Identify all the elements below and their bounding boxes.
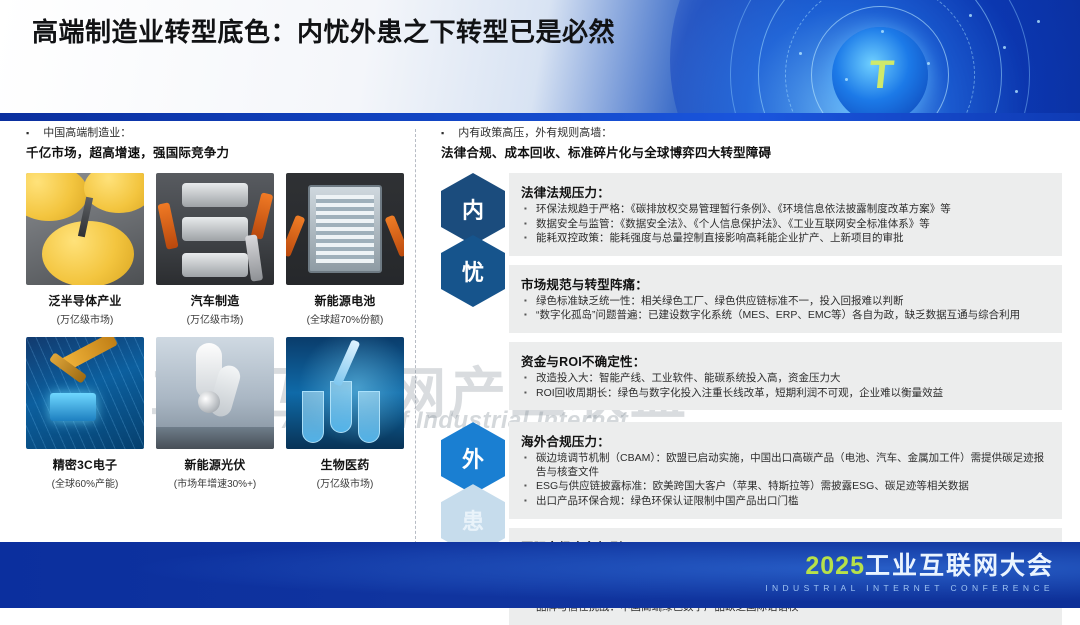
- photovoltaic-robot-arm-photo: [156, 337, 274, 449]
- section-heading: 法律法规压力：: [521, 182, 1050, 201]
- section-heading: 市场规范与转型阵痛：: [521, 274, 1050, 293]
- footer-cn-name: 工业互联网大会: [865, 552, 1054, 580]
- automotive-assembly-line-photo: [156, 173, 274, 285]
- battery-pack-robot-photo: [286, 173, 404, 285]
- right-lead-row: ▪ 内有政策高压，外有规则高墙：: [441, 125, 1062, 141]
- left-lead-text: 中国高端制造业：: [43, 125, 131, 141]
- card-title: 汽车制造: [156, 292, 274, 309]
- section-bullets: 绿色标准缺乏统一性：相关绿色工厂、绿色供应链标准不一，投入回报难以判断 “数字化…: [521, 295, 1050, 323]
- section-bullets: 碳边境调节机制（CBAM）：欧盟已启动实施，中国出口高碳产品（电池、汽车、金属加…: [521, 452, 1050, 508]
- card-title: 新能源电池: [286, 292, 404, 309]
- hex-badge-external-1: 外: [441, 422, 505, 494]
- card-caption: 精密3C电子 (全球60%产能): [26, 456, 144, 490]
- card-caption: 汽车制造 (万亿级市场): [156, 292, 274, 326]
- card-title: 新能源光伏: [156, 456, 274, 473]
- card-title: 泛半导体产业: [26, 292, 144, 309]
- list-item: 出口产品环保合规：绿色环保认证限制中国产品出口门槛: [521, 495, 1050, 509]
- left-lead-strong: 千亿市场，超高增速，强国际竞争力: [26, 142, 406, 161]
- section-legal-pressure: 法律法规压力： 环保法规趋于严格：《碳排放权交易管理暂行条例》、《环境信息依法披…: [509, 173, 1062, 256]
- industry-card[interactable]: 汽车制造 (万亿级市场): [156, 173, 274, 326]
- card-subtitle: (全球超70%份额): [286, 311, 404, 326]
- section-market-norms: 市场规范与转型阵痛： 绿色标准缺乏统一性：相关绿色工厂、绿色供应链标准不一，投入…: [509, 265, 1062, 333]
- card-subtitle: (市场年增速30%+): [156, 475, 274, 490]
- column-divider: [415, 129, 416, 549]
- industry-card-grid: 泛半导体产业 (万亿级市场) 汽车制造 (万亿级市场): [26, 173, 406, 490]
- card-subtitle: (万亿级市场): [26, 311, 144, 326]
- list-item: 数据安全与监管：《数据安全法》、《个人信息保护法》、《工业互联网安全标准体系》等: [521, 218, 1050, 232]
- industry-card[interactable]: 精密3C电子 (全球60%产能): [26, 337, 144, 490]
- card-caption: 泛半导体产业 (万亿级市场): [26, 292, 144, 326]
- biopharma-pipette-photo: [286, 337, 404, 449]
- industry-card[interactable]: 泛半导体产业 (万亿级市场): [26, 173, 144, 326]
- bullet-marker-icon: ▪: [26, 125, 29, 141]
- slide-footer: 2025工业互联网大会 INDUSTRIAL INTERNET CONFEREN…: [0, 542, 1080, 608]
- section-capital-roi: 资金与ROI不确定性： 改造投入大：智能产线、工业软件、能碳系统投入高，资金压力…: [509, 342, 1062, 410]
- list-item: ROI回收周期长：绿色与数字化投入注重长线改革，短期利润不可观，企业难以衡量效益: [521, 387, 1050, 401]
- hex-badge-label: 内: [462, 193, 484, 225]
- slide-body: 工业互联网产业联盟 Alliance of Industrial Interne…: [0, 121, 1080, 608]
- hex-badge-label: 外: [462, 442, 484, 474]
- left-column: ▪ 中国高端制造业： 千亿市场，超高增速，强国际竞争力 泛半导体产业 (万亿级市…: [26, 125, 406, 490]
- list-item: 绿色标准缺乏统一性：相关绿色工厂、绿色供应链标准不一，投入回报难以判断: [521, 295, 1050, 309]
- footer-year: 2025: [805, 552, 865, 580]
- conference-footer-logo: 2025工业互联网大会 INDUSTRIAL INTERNET CONFEREN…: [765, 552, 1054, 593]
- section-heading: 资金与ROI不确定性：: [521, 351, 1050, 370]
- internal-section-list: 法律法规压力： 环保法规趋于严格：《碳排放权交易管理暂行条例》、《环境信息依法披…: [509, 173, 1062, 410]
- card-caption: 生物医药 (万亿级市场): [286, 456, 404, 490]
- internal-pressure-group: 内 忧 法律法规压力： 环保法规趋于严格：《碳排放权交易管理暂行条例》、《环境信…: [437, 173, 1062, 410]
- card-caption: 新能源光伏 (市场年增速30%+): [156, 456, 274, 490]
- slide-header: T 高端制造业转型底色：内忧外患之下转型已是必然: [0, 0, 1080, 113]
- card-title: 精密3C电子: [26, 456, 144, 473]
- page-title: 高端制造业转型底色：内忧外患之下转型已是必然: [32, 14, 672, 50]
- hex-badge-internal-2: 忧: [441, 235, 505, 307]
- hex-badge-label: 患: [462, 504, 484, 536]
- hex-badge-label: 忧: [462, 255, 484, 287]
- list-item: 碳边境调节机制（CBAM）：欧盟已启动实施，中国出口高碳产品（电池、汽车、金属加…: [521, 452, 1050, 479]
- hex-badge-internal-1: 内: [441, 173, 505, 245]
- card-subtitle: (万亿级市场): [286, 475, 404, 490]
- bullet-marker-icon: ▪: [441, 125, 444, 141]
- semiconductor-wafer-photo: [26, 173, 144, 285]
- list-item: 能耗双控政策：能耗强度与总量控制直接影响高耗能企业扩产、上新项目的审批: [521, 232, 1050, 246]
- industry-card[interactable]: 新能源电池 (全球超70%份额): [286, 173, 404, 326]
- industry-card[interactable]: 新能源光伏 (市场年增速30%+): [156, 337, 274, 490]
- header-rule: [0, 113, 1080, 121]
- list-item: “数字化孤岛”问题普遍：已建设数字化系统（MES、ERP、EMC等）各自为政，缺…: [521, 309, 1050, 323]
- badge-stack: 外 患: [437, 422, 509, 556]
- list-item: 环保法规趋于严格：《碳排放权交易管理暂行条例》、《环境信息依法披露制度改革方案》…: [521, 203, 1050, 217]
- section-bullets: 改造投入大：智能产线、工业软件、能碳系统投入高，资金压力大 ROI回收周期长：绿…: [521, 372, 1050, 400]
- card-subtitle: (万亿级市场): [156, 311, 274, 326]
- industry-card[interactable]: 生物医药 (万亿级市场): [286, 337, 404, 490]
- card-caption: 新能源电池 (全球超70%份额): [286, 292, 404, 326]
- section-heading: 海外合规压力：: [521, 431, 1050, 450]
- section-overseas-compliance: 海外合规压力： 碳边境调节机制（CBAM）：欧盟已启动实施，中国出口高碳产品（电…: [509, 422, 1062, 518]
- left-lead-row: ▪ 中国高端制造业：: [26, 125, 406, 141]
- precision-electronics-photo: [26, 337, 144, 449]
- footer-en-name: INDUSTRIAL INTERNET CONFERENCE: [765, 583, 1054, 593]
- card-subtitle: (全球60%产能): [26, 475, 144, 490]
- section-bullets: 环保法规趋于严格：《碳排放权交易管理暂行条例》、《环境信息依法披露制度改革方案》…: [521, 203, 1050, 246]
- card-title: 生物医药: [286, 456, 404, 473]
- badge-stack: 内 忧: [437, 173, 509, 307]
- list-item: ESG与供应链披露标准：欧美跨国大客户（苹果、特斯拉等）需披露ESG、碳足迹等相…: [521, 480, 1050, 494]
- list-item: 改造投入大：智能产线、工业软件、能碳系统投入高，资金压力大: [521, 372, 1050, 386]
- right-lead-text: 内有政策高压，外有规则高墙：: [458, 125, 612, 141]
- right-lead-strong: 法律合规、成本回收、标准碎片化与全球博弈四大转型障碍: [441, 142, 1062, 161]
